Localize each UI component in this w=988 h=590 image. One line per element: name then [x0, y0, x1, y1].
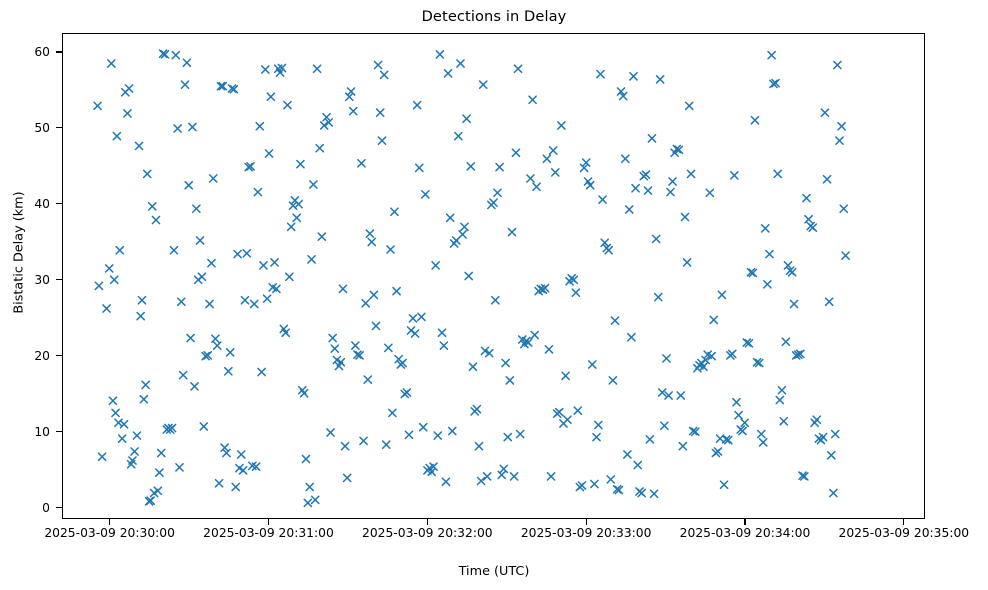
scatter-marker [135, 142, 142, 149]
scatter-marker [634, 461, 641, 468]
scatter-marker [512, 149, 519, 156]
scatter-marker [809, 224, 816, 231]
y-tick-mark [56, 507, 62, 508]
scatter-marker [120, 421, 127, 428]
scatter-marker [463, 115, 470, 122]
scatter-marker [191, 383, 198, 390]
scatter-marker [286, 273, 293, 280]
scatter-marker [414, 102, 421, 109]
scatter-marker [98, 453, 105, 460]
scatter-marker [646, 436, 653, 443]
scatter-marker [632, 185, 639, 192]
y-tick-mark [56, 203, 62, 204]
scatter-marker [628, 334, 635, 341]
scatter-marker [411, 330, 418, 337]
scatter-marker [436, 51, 443, 58]
scatter-marker [288, 223, 295, 230]
scatter-marker [564, 416, 571, 423]
scatter-marker [731, 172, 738, 179]
chart-title: Detections in Delay [0, 8, 988, 25]
scatter-marker [316, 145, 323, 152]
scatter-marker [531, 331, 538, 338]
scatter-marker [350, 108, 357, 115]
scatter-marker [144, 170, 151, 177]
scatter-marker [706, 189, 713, 196]
scatter-marker [720, 481, 727, 488]
scatter-marker [823, 176, 830, 183]
scatter-marker [198, 273, 205, 280]
scatter-marker [360, 437, 367, 444]
x-tick-label: 2025-03-09 20:32:00 [362, 527, 493, 539]
scatter-marker [803, 195, 810, 202]
scatter-marker [517, 430, 524, 437]
scatter-marker [838, 123, 845, 130]
scatter-marker [331, 345, 338, 352]
scatter-marker [611, 317, 618, 324]
scatter-marker [434, 432, 441, 439]
scatter-marker [762, 225, 769, 232]
scatter-marker [650, 490, 657, 497]
scatter-marker [378, 137, 385, 144]
scatter-marker [490, 199, 497, 206]
scatter-marker [622, 155, 629, 162]
scatter-marker [111, 276, 118, 283]
scatter-marker [533, 183, 540, 190]
scatter-marker [828, 452, 835, 459]
scatter-marker [416, 164, 423, 171]
scatter-marker [444, 70, 451, 77]
scatter-marker [597, 70, 604, 77]
scatter-marker [457, 60, 464, 67]
scatter-marker [112, 409, 119, 416]
scatter-marker [624, 451, 631, 458]
scatter-marker [295, 201, 302, 208]
scatter-marker [653, 235, 660, 242]
scatter-marker [669, 178, 676, 185]
x-tick-label: 2025-03-09 20:35:00 [839, 527, 970, 539]
x-tick-mark [903, 519, 904, 525]
scatter-marker [607, 476, 614, 483]
scatter-marker [842, 252, 849, 259]
scatter-marker [805, 216, 812, 223]
scatter-marker [832, 430, 839, 437]
scatter-marker [142, 381, 149, 388]
scatter-marker [638, 489, 645, 496]
x-tick-mark [586, 519, 587, 525]
scatter-marker [210, 175, 217, 182]
scatter-marker [609, 377, 616, 384]
scatter-marker [830, 489, 837, 496]
scatter-marker [241, 297, 248, 304]
scatter-marker [260, 262, 267, 269]
scatter-marker [591, 480, 598, 487]
scatter-marker [593, 433, 600, 440]
scatter-marker [679, 443, 686, 450]
y-tick-label: 10 [0, 426, 50, 438]
scatter-marker [527, 175, 534, 182]
scatter-marker [494, 189, 501, 196]
scatter-marker [547, 473, 554, 480]
scatter-marker [663, 355, 670, 362]
scatter-marker [741, 419, 748, 426]
scatter-marker [677, 392, 684, 399]
scatter-marker [297, 160, 304, 167]
scatter-marker [475, 443, 482, 450]
scatter-marker [137, 312, 144, 319]
scatter-marker [381, 71, 388, 78]
y-tick-mark [56, 279, 62, 280]
scatter-marker [442, 478, 449, 485]
x-tick-label: 2025-03-09 20:31:00 [203, 527, 334, 539]
scatter-marker [113, 133, 120, 140]
scatter-marker [140, 396, 147, 403]
scatter-marker [189, 123, 196, 130]
scatter-marker [200, 423, 207, 430]
scatter-marker [254, 188, 261, 195]
scatter-marker [440, 342, 447, 349]
scatter-marker [545, 346, 552, 353]
scatter-marker [372, 322, 379, 329]
scatter-marker [187, 334, 194, 341]
scatter-marker [589, 361, 596, 368]
scatter-marker [459, 231, 466, 238]
scatter-marker [782, 338, 789, 345]
scatter-marker [681, 213, 688, 220]
scatter-marker [389, 409, 396, 416]
scatter-marker [95, 282, 102, 289]
scatter-marker [240, 467, 247, 474]
scatter-marker [552, 169, 559, 176]
scatter-marker [764, 281, 771, 288]
scatter-marker [760, 439, 767, 446]
plot-area [62, 33, 925, 519]
scatter-marker [366, 230, 373, 237]
y-tick-mark [56, 355, 62, 356]
scatter-marker [212, 335, 219, 342]
scatter-marker [124, 110, 131, 117]
scatter-marker [556, 409, 563, 416]
scatter-marker [185, 182, 192, 189]
scatter-marker [578, 482, 585, 489]
scatter-marker [572, 289, 579, 296]
scatter-marker [374, 61, 381, 68]
scatter-marker [418, 313, 425, 320]
scatter-marker [131, 448, 138, 455]
scatter-marker [644, 187, 651, 194]
scatter-marker [94, 102, 101, 109]
y-tick-label: 60 [0, 46, 50, 58]
scatter-marker [310, 181, 317, 188]
scatter-marker [385, 344, 392, 351]
scatter-marker [154, 487, 161, 494]
scatter-marker [710, 316, 717, 323]
scatter-marker [149, 203, 156, 210]
scatter-marker [214, 342, 221, 349]
scatter-marker [714, 448, 721, 455]
scatter-marker [766, 250, 773, 257]
scatter-marker [208, 260, 215, 267]
scatter-marker [409, 315, 416, 322]
scatter-marker [776, 396, 783, 403]
scatter-marker [821, 109, 828, 116]
scatter-marker [465, 272, 472, 279]
scatter-marker [661, 422, 668, 429]
scatter-marker [108, 60, 115, 67]
scatter-marker [686, 102, 693, 109]
scatter-marker [813, 416, 820, 423]
scatter-marker [116, 247, 123, 254]
scatter-marker [180, 371, 187, 378]
scatter-marker [106, 265, 113, 272]
scatter-marker [667, 188, 674, 195]
x-tick-mark [109, 519, 110, 525]
scatter-marker [758, 430, 765, 437]
scatter-marker [339, 285, 346, 292]
scatter-marker [271, 259, 278, 266]
scatter-marker [422, 191, 429, 198]
scatter-marker [183, 59, 190, 66]
scatter-marker [733, 399, 740, 406]
scatter-marker [383, 441, 390, 448]
scatter-marker [265, 150, 272, 157]
scatter-marker [109, 397, 116, 404]
scatter-marker [227, 349, 234, 356]
scatter-marker [304, 499, 311, 506]
scatter-marker [504, 433, 511, 440]
scatter-marker [119, 435, 126, 442]
scatter-marker [630, 73, 637, 80]
scatter-marker [774, 170, 781, 177]
scatter-marker [238, 451, 245, 458]
y-tick-label: 0 [0, 501, 50, 513]
scatter-marker [684, 259, 691, 266]
scatter-marker [103, 305, 110, 312]
scatter-marker [206, 300, 213, 307]
scatter-marker [655, 294, 662, 301]
scatter-marker [362, 300, 369, 307]
scatter-marker [420, 424, 427, 431]
scatter-marker [318, 233, 325, 240]
scatter-points-layer [63, 34, 924, 518]
scatter-marker [341, 443, 348, 450]
scatter-marker [836, 137, 843, 144]
x-tick-mark [268, 519, 269, 525]
scatter-marker [329, 334, 336, 341]
x-tick-label: 2025-03-09 20:33:00 [521, 527, 652, 539]
scatter-marker [599, 196, 606, 203]
scatter-marker [735, 412, 742, 419]
scatter-marker [125, 85, 132, 92]
scatter-marker [626, 206, 633, 213]
x-tick-mark [427, 519, 428, 525]
scatter-marker [181, 81, 188, 88]
x-tick-mark [744, 519, 745, 525]
scatter-marker [558, 122, 565, 129]
scatter-marker [529, 96, 536, 103]
scatter-marker [313, 65, 320, 72]
scatter-marker [403, 389, 410, 396]
scatter-marker [196, 237, 203, 244]
scatter-marker [840, 205, 847, 212]
y-tick-mark [56, 127, 62, 128]
scatter-marker [469, 363, 476, 370]
scatter-marker [158, 449, 165, 456]
scatter-marker [562, 372, 569, 379]
scatter-marker [642, 171, 649, 178]
scatter-marker [405, 431, 412, 438]
scatter-marker [492, 297, 499, 304]
scatter-marker [826, 298, 833, 305]
scatter-marker [387, 246, 394, 253]
scatter-marker [293, 214, 300, 221]
x-tick-label: 2025-03-09 20:30:00 [44, 527, 175, 539]
scatter-marker [508, 229, 515, 236]
scatter-marker [496, 164, 503, 171]
scatter-marker [156, 469, 163, 476]
scatter-marker [657, 76, 664, 83]
scatter-marker [364, 376, 371, 383]
y-tick-mark [56, 51, 62, 52]
scatter-marker [344, 474, 351, 481]
scatter-marker [243, 250, 250, 257]
scatter-marker [500, 465, 507, 472]
scatter-marker [550, 147, 557, 154]
scatter-marker [751, 117, 758, 124]
scatter-marker [370, 291, 377, 298]
x-axis-label: Time (UTC) [0, 564, 988, 579]
scatter-marker [511, 473, 518, 480]
scatter-marker [327, 429, 334, 436]
scatter-marker [789, 269, 796, 276]
scatter-marker [172, 52, 179, 59]
scatter-marker [377, 109, 384, 116]
scatter-marker [778, 387, 785, 394]
y-axis-label: Bistatic Delay (km) [12, 123, 27, 383]
scatter-marker [193, 205, 200, 212]
scatter-marker [308, 256, 315, 263]
scatter-marker [174, 125, 181, 132]
scatter-marker [455, 133, 462, 140]
scatter-marker [267, 93, 274, 100]
scatter-marker [262, 66, 269, 73]
scatter-marker [514, 65, 521, 72]
scatter-marker [312, 496, 319, 503]
scatter-marker [133, 432, 140, 439]
y-tick-mark [56, 431, 62, 432]
scatter-marker [306, 483, 313, 490]
scatter-marker [605, 247, 612, 254]
scatter-marker [225, 368, 232, 375]
scatter-marker [391, 208, 398, 215]
scatter-marker [178, 298, 185, 305]
scatter-marker [648, 135, 655, 142]
scatter-marker [449, 427, 456, 434]
scatter-marker [284, 102, 291, 109]
scatter-marker [502, 359, 509, 366]
scatter-marker [393, 288, 400, 295]
scatter-marker [251, 300, 258, 307]
scatter-marker [506, 377, 513, 384]
scatter-marker [834, 61, 841, 68]
scatter-marker [234, 250, 241, 257]
scatter-marker [256, 123, 263, 130]
scatter-marker [176, 464, 183, 471]
scatter-marker [368, 238, 375, 245]
scatter-marker [302, 455, 309, 462]
scatter-marker [461, 223, 468, 230]
scatter-marker [138, 297, 145, 304]
scatter-marker [574, 407, 581, 414]
scatter-marker [473, 406, 480, 413]
scatter-marker [718, 291, 725, 298]
scatter-marker [352, 342, 359, 349]
scatter-marker [780, 418, 787, 425]
scatter-marker [358, 160, 365, 167]
scatter-marker [595, 421, 602, 428]
scatter-marker [438, 329, 445, 336]
scatter-marker [301, 390, 308, 397]
scatter-marker [477, 477, 484, 484]
scatter-marker [484, 473, 491, 480]
scatter-marker [232, 483, 239, 490]
scatter-marker [215, 480, 222, 487]
scatter-marker [258, 368, 265, 375]
x-tick-label: 2025-03-09 20:34:00 [680, 527, 811, 539]
scatter-marker [543, 155, 550, 162]
scatter-marker [432, 262, 439, 269]
scatter-marker [152, 216, 159, 223]
scatter-marker [480, 81, 487, 88]
scatter-marker [467, 163, 474, 170]
scatter-marker [264, 295, 271, 302]
scatter-marker [170, 247, 177, 254]
scatter-marker [790, 300, 797, 307]
scatter-marker [498, 471, 505, 478]
matplotlib-figure: Detections in Delay 0102030405060 2025-0… [0, 0, 988, 590]
scatter-marker [447, 214, 454, 221]
scatter-marker [687, 170, 694, 177]
scatter-marker [768, 52, 775, 59]
